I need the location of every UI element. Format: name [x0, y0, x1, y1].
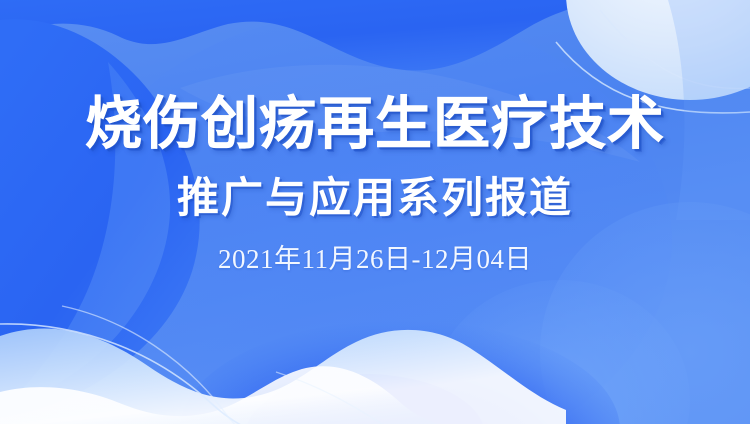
page-subtitle: 推广与应用系列报道 [177, 177, 573, 219]
promo-banner: 烧伤创疡再生医疗技术 推广与应用系列报道 2021年11月26日-12月04日 [0, 0, 750, 424]
page-title: 烧伤创疡再生医疗技术 [85, 96, 665, 153]
banner-content: 烧伤创疡再生医疗技术 推广与应用系列报道 2021年11月26日-12月04日 [0, 0, 750, 424]
date-range-label: 2021年11月26日-12月04日 [218, 246, 532, 273]
